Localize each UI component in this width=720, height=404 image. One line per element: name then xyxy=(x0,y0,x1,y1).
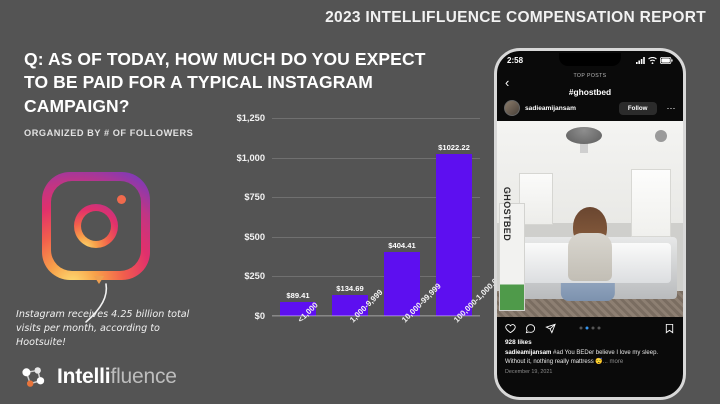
logo-wordmark: Intellifluence xyxy=(57,365,177,389)
chart-plot-area: $1,250 $1,000 $750 $500 $250 $0 $89.41 $… xyxy=(272,118,480,316)
y-axis-tick: $1,000 xyxy=(237,153,265,163)
logo-text-secondary: fluence xyxy=(110,365,176,388)
y-axis-tick: $250 xyxy=(244,271,265,281)
y-axis-tick: $1,250 xyxy=(237,113,265,123)
pager-dot xyxy=(592,327,595,330)
y-axis-tick: $750 xyxy=(244,192,265,202)
x-axis-labels: <1,000 1,000-9,999 10,000-99,999 100,000… xyxy=(272,318,480,378)
post-user-row: sadieamijansam Follow ⋯ xyxy=(497,95,683,121)
page-title: Q: AS OF TODAY, HOW MUCH DO YOU EXPECT T… xyxy=(24,48,454,118)
post-actions xyxy=(497,317,683,339)
bar-value-label: $134.69 xyxy=(336,284,363,293)
ghostbed-brand-text: GHOSTBED xyxy=(502,187,512,241)
y-axis-tick: $0 xyxy=(255,311,265,321)
wifi-icon xyxy=(648,57,657,64)
chart-bars: $89.41 $134.69 $404.41 $1022.22 xyxy=(272,118,480,316)
likes-count: 928 likes xyxy=(497,339,683,346)
logo-text-primary: Intelli xyxy=(57,365,110,388)
window-right xyxy=(631,169,671,237)
more-options-icon[interactable]: ⋯ xyxy=(667,103,677,114)
post-image: GHOSTBED xyxy=(497,121,683,317)
instagram-balloon xyxy=(42,172,162,292)
caption-more-link[interactable]: ... more xyxy=(603,359,623,365)
bar-value-label: $404.41 xyxy=(388,241,415,250)
instagram-logo-icon xyxy=(42,172,150,280)
bar[interactable] xyxy=(436,154,471,316)
phone-notch xyxy=(559,53,621,66)
post-username[interactable]: sadieamijansam xyxy=(525,105,576,112)
bar-value-label: $89.41 xyxy=(286,291,309,300)
phone-nav-bar: ‹ TOP POSTS #ghostbed xyxy=(497,69,683,95)
battery-icon xyxy=(660,57,673,64)
person-body xyxy=(568,233,612,281)
pager-dot-active xyxy=(586,327,589,330)
nav-title-group: TOP POSTS #ghostbed xyxy=(497,64,683,100)
back-chevron-icon[interactable]: ‹ xyxy=(505,76,509,89)
instagram-stat-caption: Instagram receives 4.25 billion total vi… xyxy=(16,308,212,350)
bar-value-label: $1022.22 xyxy=(438,143,470,152)
report-header-title: 2023 INTELLIFLUENCE COMPENSATION REPORT xyxy=(325,9,706,27)
ghostbed-box: GHOSTBED xyxy=(499,203,525,311)
bar-column[interactable]: $89.41 xyxy=(280,118,315,316)
pager-dot xyxy=(580,327,583,330)
follow-button[interactable]: Follow xyxy=(619,102,657,115)
post-date: December 19, 2021 xyxy=(497,366,683,375)
share-icon[interactable] xyxy=(545,323,556,334)
top-posts-label: TOP POSTS xyxy=(573,73,606,79)
phone-mockup: 2:58 ‹ TOP POSTS #ghostbed xyxy=(494,48,686,400)
bookmark-icon[interactable] xyxy=(664,323,675,334)
ceiling-light-icon xyxy=(566,127,602,144)
bar-column[interactable]: $134.69 xyxy=(332,118,367,316)
pager-dot xyxy=(598,327,601,330)
status-time: 2:58 xyxy=(507,56,523,65)
status-icons xyxy=(636,57,673,64)
post-caption: sadieamijansam #ad You BEDer believe I l… xyxy=(497,346,683,366)
intellifluence-logo: Intellifluence xyxy=(18,362,177,392)
signal-icon xyxy=(636,57,645,64)
instagram-dot-icon xyxy=(117,195,126,204)
wall-vent-icon xyxy=(655,130,667,142)
bar-chart: $1,250 $1,000 $750 $500 $250 $0 $89.41 $… xyxy=(222,112,484,324)
like-heart-icon[interactable] xyxy=(505,323,516,334)
y-axis-tick: $500 xyxy=(244,232,265,242)
bar-column[interactable]: $404.41 xyxy=(384,118,419,316)
carousel-pager xyxy=(580,327,601,330)
molecule-icon xyxy=(18,362,48,392)
instagram-lens-icon xyxy=(74,204,118,248)
caption-username[interactable]: sadieamijansam xyxy=(505,350,551,356)
avatar[interactable] xyxy=(504,100,520,116)
comment-icon[interactable] xyxy=(525,323,536,334)
